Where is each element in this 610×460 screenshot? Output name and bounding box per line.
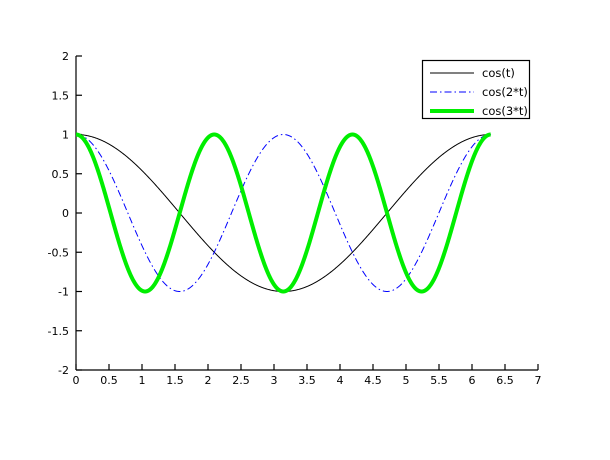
legend-label-2: cos(2*t) [482,85,528,99]
x-tick-label: 1 [139,374,146,387]
legend-label-1: cos(t) [482,66,515,80]
y-tick-label: 2 [62,50,69,63]
y-tick-label: -1.5 [48,325,69,338]
y-tick-label: 0.5 [52,168,70,181]
legend-label-3: cos(3*t) [482,104,528,118]
y-tick-label: -0.5 [48,246,69,259]
plot-canvas: 00.511.522.533.544.555.566.57 21.510.50-… [0,0,610,460]
y-tick-label: -1 [58,286,69,299]
x-tick-label: 2.5 [232,374,250,387]
chart-figure: 00.511.522.533.544.555.566.57 21.510.50-… [0,0,610,460]
y-tick-label: 1 [62,129,69,142]
x-tick-label: 1.5 [166,374,184,387]
x-tick-label: 4 [337,374,344,387]
x-tick-label: 0.5 [100,374,118,387]
y-tick-label: 1.5 [52,89,70,102]
x-tick-label: 6.5 [496,374,514,387]
x-tick-label: 3.5 [298,374,316,387]
x-tick-label: 5 [403,374,410,387]
x-tick-label: 0 [73,374,80,387]
legend[interactable]: cos(t)cos(2*t)cos(3*t) [423,61,530,119]
x-tick-label: 3 [271,374,278,387]
x-tick-label: 6 [469,374,476,387]
x-tick-label: 2 [205,374,212,387]
y-tick-label: -2 [58,364,69,377]
y-tick-label: 0 [62,207,69,220]
x-tick-label: 7 [535,374,542,387]
x-tick-label: 4.5 [364,374,382,387]
x-tick-label: 5.5 [430,374,448,387]
